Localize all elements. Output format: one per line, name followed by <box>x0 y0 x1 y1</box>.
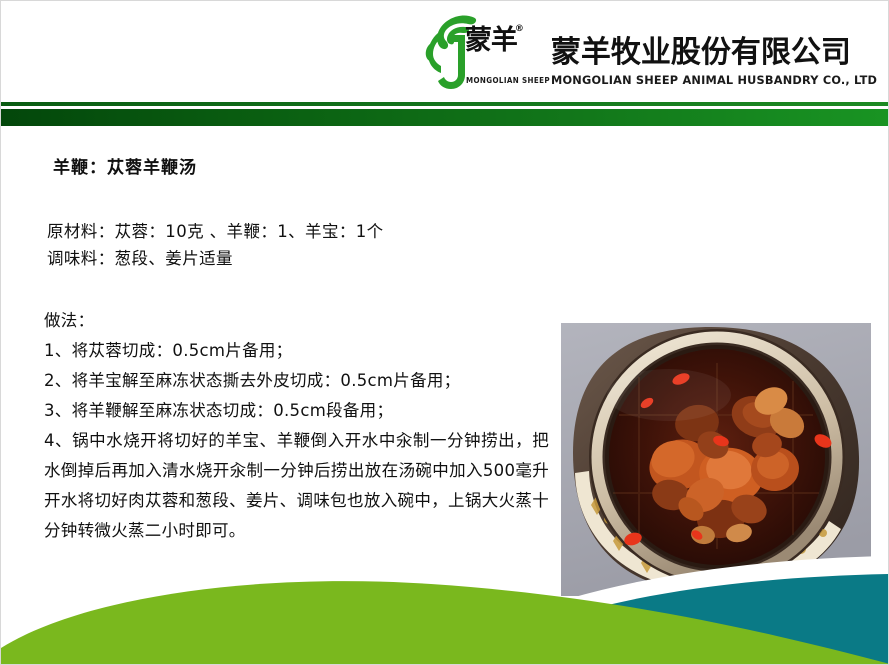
slide-header: 蒙羊 ® MONGOLIAN SHEEP 蒙羊牧业股份有限公司 MONGOLIA… <box>1 1 889 101</box>
registered-mark: ® <box>515 24 524 34</box>
method-step: 1、将苁蓉切成：0.5cm片备用； <box>44 336 549 366</box>
slide-title: 羊鞭：苁蓉羊鞭汤 <box>53 153 197 178</box>
method-step: 4、锅中水烧开将切好的羊宝、羊鞭倒入开水中汆制一分钟捞出，把水倒掉后再加入清水烧… <box>44 426 549 546</box>
company-name-en: MONGOLIAN SHEEP ANIMAL HUSBANDRY CO., LT… <box>551 73 877 87</box>
method-step: 3、将羊鞭解至麻冻状态切成：0.5cm段备用； <box>44 396 549 426</box>
logo-brand-cn: 蒙羊 <box>465 27 517 54</box>
method-step: 2、将羊宝解至麻冻状态撕去外皮切成：0.5cm片备用； <box>44 366 549 396</box>
brand-logo-block: 蒙羊 ® MONGOLIAN SHEEP 蒙羊牧业股份有限公司 MONGOLIA… <box>425 11 882 91</box>
ingredient-line: 调味料：葱段、姜片适量 <box>47 245 384 272</box>
method-heading: 做法： <box>44 306 549 336</box>
logo-brand-en: MONGOLIAN SHEEP <box>466 76 550 85</box>
soup-bowl-photo-illustration <box>561 323 871 596</box>
presentation-slide: 蒙羊 ® MONGOLIAN SHEEP 蒙羊牧业股份有限公司 MONGOLIA… <box>0 0 889 665</box>
ingredient-line: 原材料：苁蓉：10克 、羊鞭：1、羊宝：1个 <box>47 218 384 245</box>
company-name-cn: 蒙羊牧业股份有限公司 <box>551 36 882 70</box>
ingredients-block: 原材料：苁蓉：10克 、羊鞭：1、羊宝：1个 调味料：葱段、姜片适量 <box>47 218 384 272</box>
header-rule-thick <box>1 109 889 126</box>
logo-mark: 蒙羊 ® MONGOLIAN SHEEP <box>425 13 537 91</box>
method-block: 做法： 1、将苁蓉切成：0.5cm片备用； 2、将羊宝解至麻冻状态撕去外皮切成：… <box>44 306 549 546</box>
dish-photo <box>561 323 871 596</box>
company-name-block: 蒙羊牧业股份有限公司 MONGOLIAN SHEEP ANIMAL HUSBAN… <box>551 36 882 91</box>
